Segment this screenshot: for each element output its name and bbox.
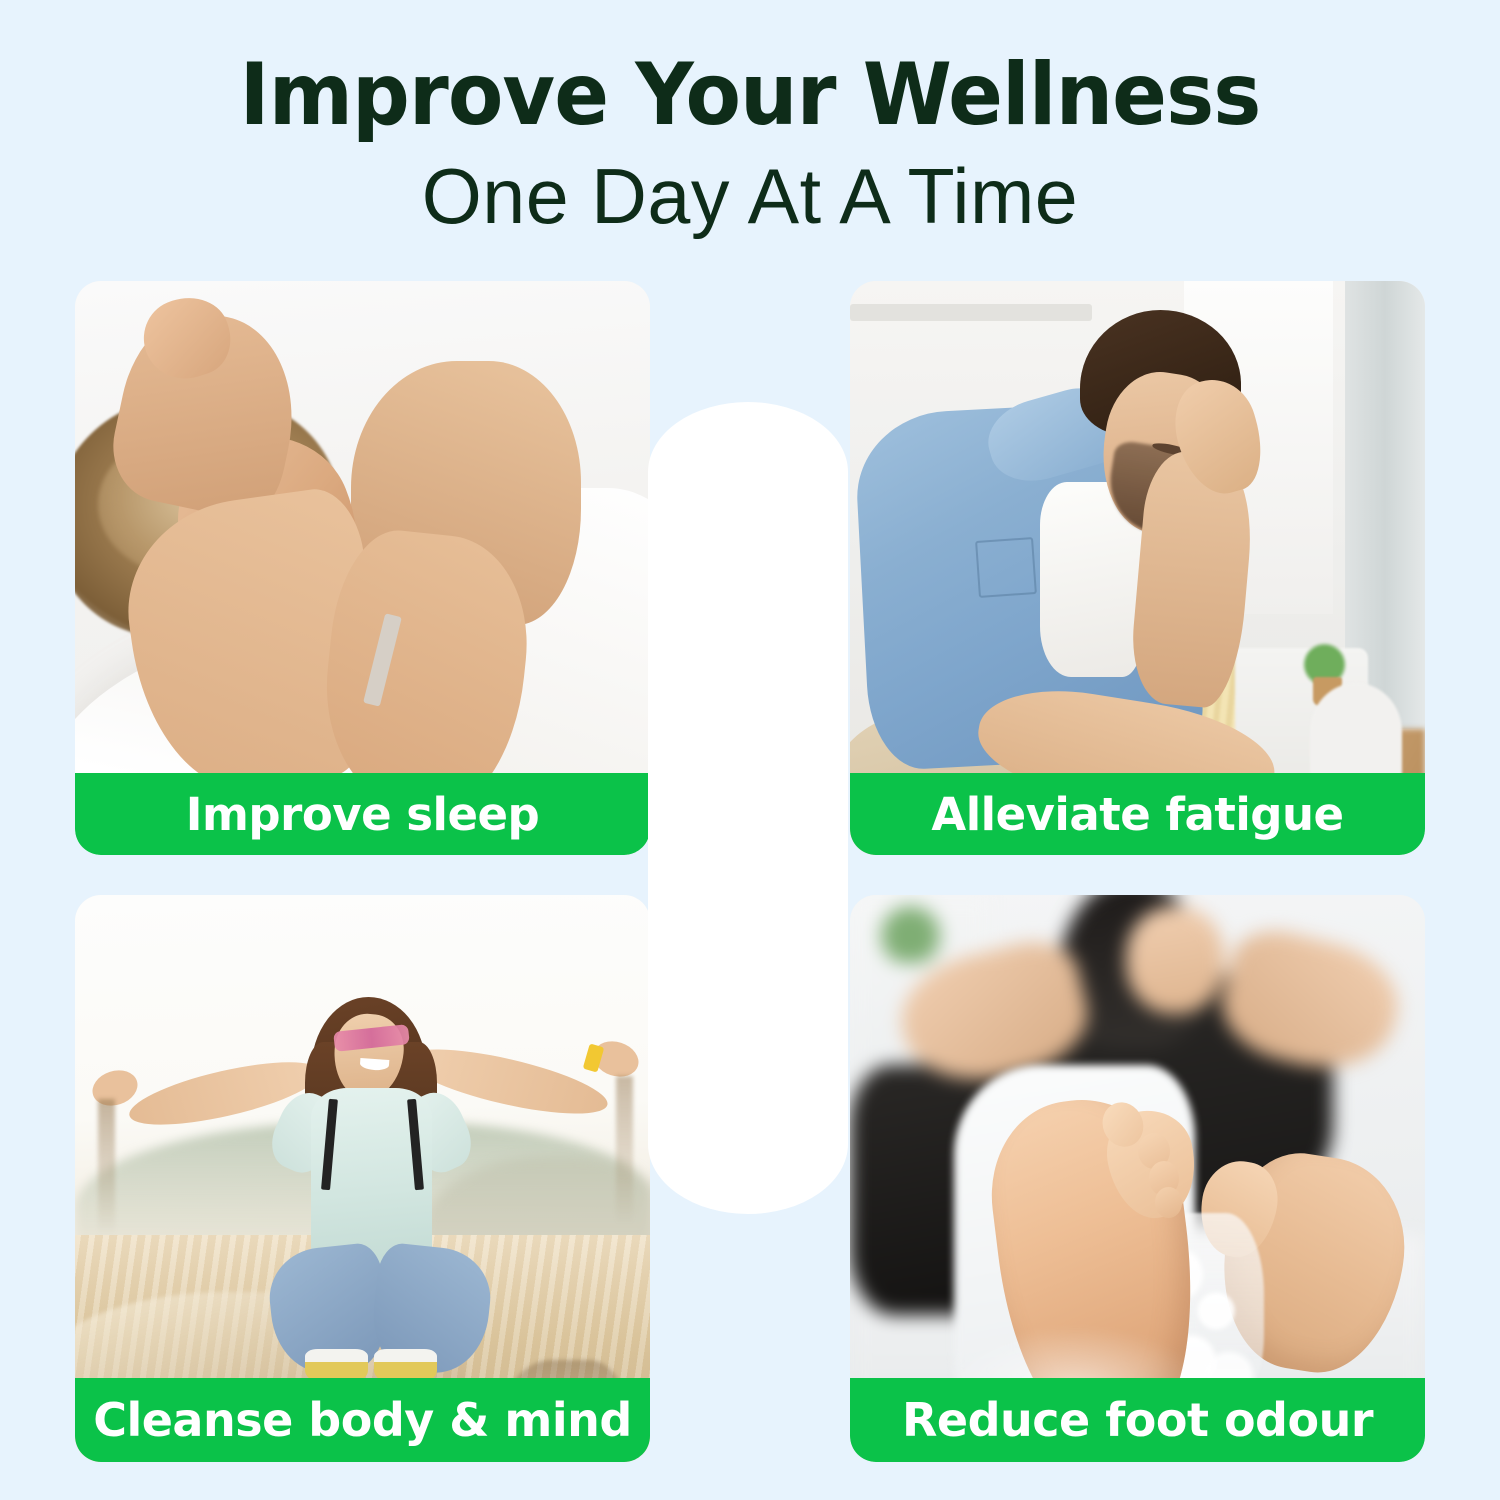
page-title: Improve Your Wellness (45, 52, 1455, 140)
benefit-card-improve-sleep[interactable]: Improve sleep (75, 281, 650, 855)
photo-tired-man (850, 281, 1425, 855)
photo-woman-on-sand (75, 895, 650, 1462)
card-label-alleviate-fatigue: Alleviate fatigue (850, 773, 1425, 855)
page-subtitle: One Day At A Time (8, 156, 1493, 238)
card-label-cleanse-body-and-mind: Cleanse body & mind (75, 1378, 650, 1462)
photo-bare-feet (850, 895, 1425, 1462)
center-divider (648, 402, 848, 1214)
benefit-card-cleanse-body-and-mind[interactable]: Cleanse body & mind (75, 895, 650, 1462)
card-label-reduce-foot-odour: Reduce foot odour (850, 1378, 1425, 1462)
card-label-improve-sleep: Improve sleep (75, 773, 650, 855)
heading-block: Improve Your Wellness One Day At A Time (0, 0, 1500, 238)
benefit-card-alleviate-fatigue[interactable]: Alleviate fatigue (850, 281, 1425, 855)
photo-sleeping-woman (75, 281, 650, 855)
benefit-card-reduce-foot-odour[interactable]: Reduce foot odour (850, 895, 1425, 1462)
